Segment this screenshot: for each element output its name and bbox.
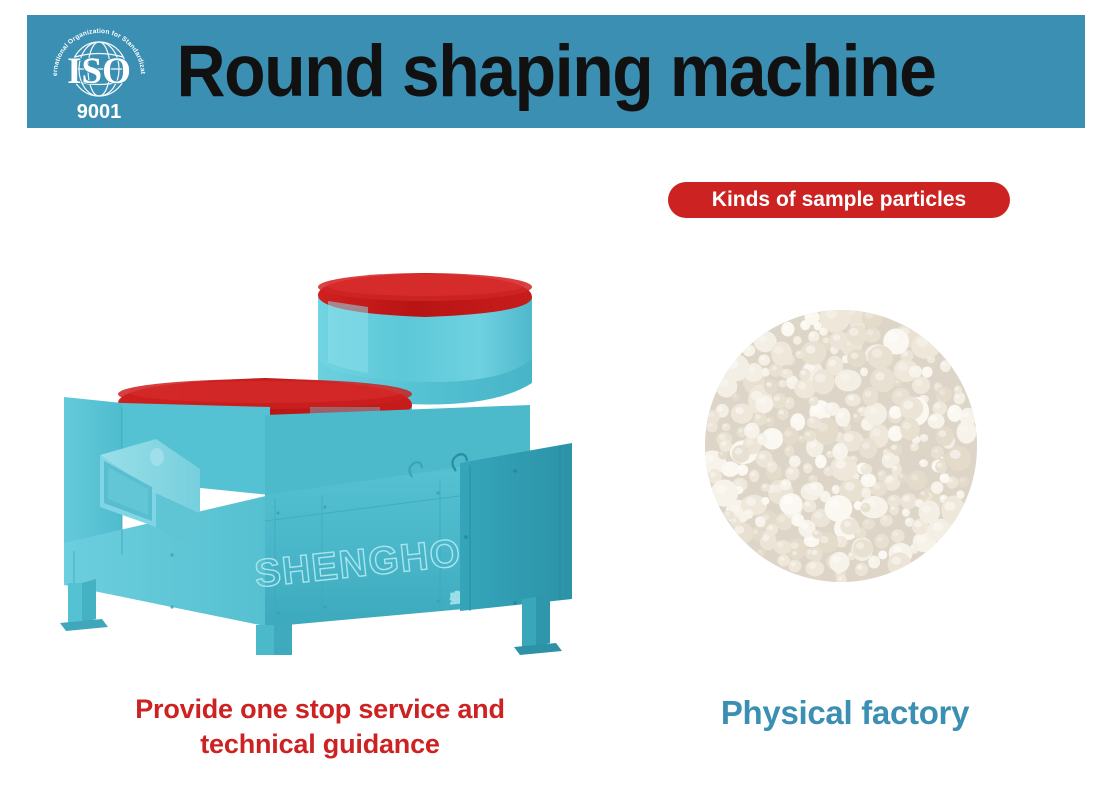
- left-caption-line-2: technical guidance: [20, 727, 620, 762]
- left-caption-line-1: Provide one stop service and: [20, 692, 620, 727]
- header-bar: International Organization for Standardi…: [27, 15, 1085, 128]
- machine-product-photo: SHENGHONG 盛宏重工: [60, 255, 620, 655]
- left-caption: Provide one stop service and technical g…: [20, 692, 620, 761]
- sample-particles-photo: [705, 310, 977, 582]
- right-caption: Physical factory: [620, 694, 1070, 732]
- page-title: Round shaping machine: [64, 15, 1048, 128]
- status-badge-label: Kinds of sample particles: [712, 188, 966, 212]
- access-panel: [452, 443, 572, 611]
- status-badge-sample-particles: Kinds of sample particles: [668, 182, 1010, 218]
